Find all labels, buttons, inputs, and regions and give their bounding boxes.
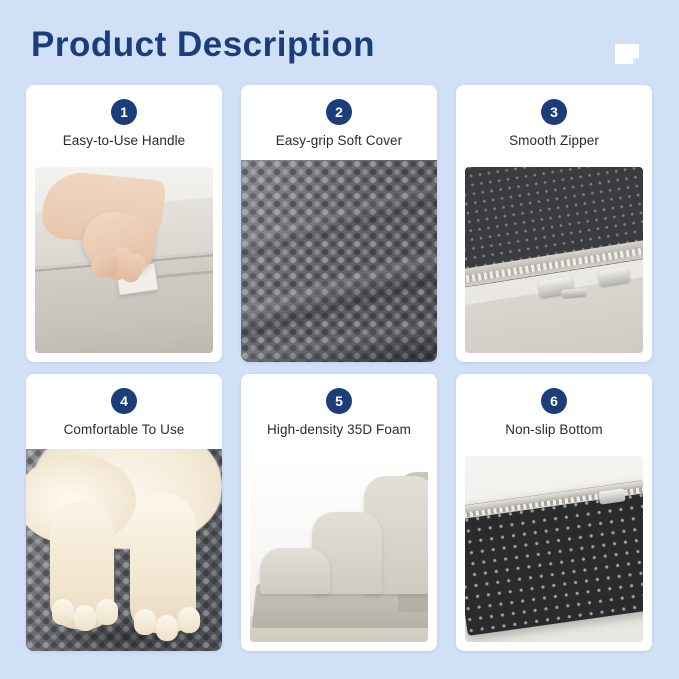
- card-number-badge-2: 2: [326, 99, 352, 125]
- page-curl-icon: [613, 40, 641, 68]
- dog-paws-on-fabric-photo: [26, 449, 222, 651]
- feature-card-1[interactable]: 1 Easy-to-Use Handle: [26, 85, 222, 362]
- card-header-3: 3 Smooth Zipper: [456, 85, 652, 160]
- grey-bubble-knit-fabric-photo: [241, 160, 437, 362]
- card-caption-3: Smooth Zipper: [456, 133, 652, 148]
- card-number-badge-6: 6: [541, 388, 567, 414]
- product-description-page: Product Description 1 Easy-to-Use Handle: [0, 0, 679, 679]
- zipper-closeup-photo: [465, 167, 643, 353]
- feature-card-4[interactable]: 4 Comfortable To Use: [26, 374, 222, 651]
- card-caption-2: Easy-grip Soft Cover: [241, 133, 437, 148]
- card-number-badge-5: 5: [326, 388, 352, 414]
- card-caption-5: High-density 35D Foam: [241, 422, 437, 437]
- non-slip-dotted-bottom-photo: [465, 456, 643, 642]
- card-header-4: 4 Comfortable To Use: [26, 374, 222, 449]
- card-caption-6: Non-slip Bottom: [456, 422, 652, 437]
- card-header-2: 2 Easy-grip Soft Cover: [241, 85, 437, 160]
- feature-card-5[interactable]: 5 High-density 35D Foam: [241, 374, 437, 651]
- card-header-1: 1 Easy-to-Use Handle: [26, 85, 222, 160]
- feature-card-grid: 1 Easy-to-Use Handle 2 Easy-grip Soft Co…: [26, 85, 653, 651]
- page-title: Product Description: [31, 25, 375, 65]
- card-number-badge-3: 3: [541, 99, 567, 125]
- feature-card-6[interactable]: 6 Non-slip Bottom: [456, 374, 652, 651]
- hand-pulling-handle-photo: [35, 167, 213, 353]
- card-number-badge-1: 1: [111, 99, 137, 125]
- card-number-badge-4: 4: [111, 388, 137, 414]
- card-header-6: 6 Non-slip Bottom: [456, 374, 652, 449]
- card-caption-4: Comfortable To Use: [26, 422, 222, 437]
- feature-card-2[interactable]: 2 Easy-grip Soft Cover: [241, 85, 437, 362]
- feature-card-3[interactable]: 3 Smooth Zipper: [456, 85, 652, 362]
- card-header-5: 5 High-density 35D Foam: [241, 374, 437, 449]
- card-caption-1: Easy-to-Use Handle: [26, 133, 222, 148]
- foam-stairs-photo: [250, 456, 428, 642]
